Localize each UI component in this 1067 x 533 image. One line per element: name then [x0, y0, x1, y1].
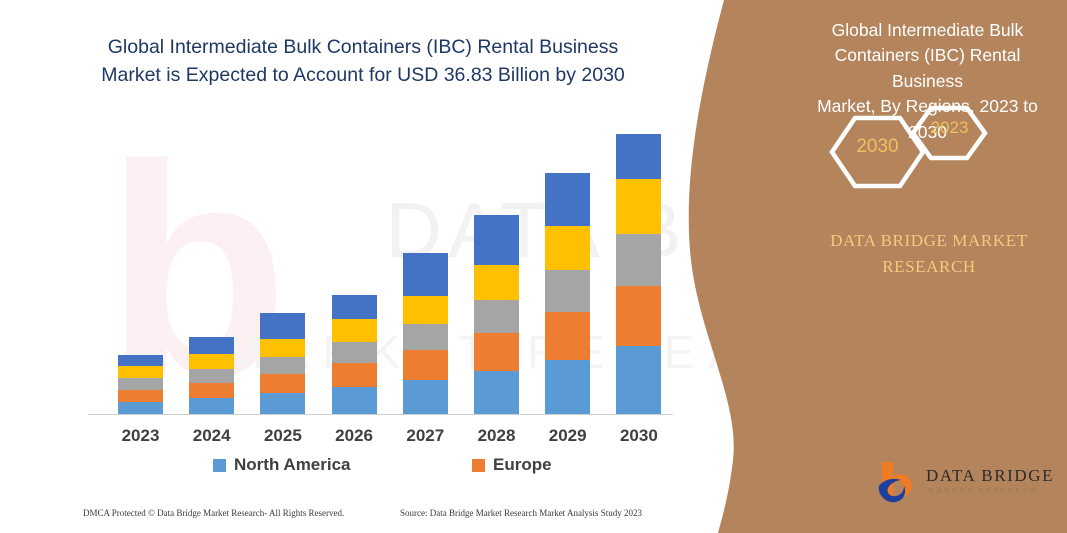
bar-segment-north-america: [189, 398, 234, 414]
bar-segment-series-5: [403, 253, 448, 296]
footer-source-text: Source: Data Bridge Market Research Mark…: [400, 508, 642, 518]
bar-segment-series-5: [545, 173, 590, 226]
bar-segment-europe: [403, 350, 448, 380]
bar-segment-series-5: [260, 313, 305, 339]
chart-baseline: [88, 414, 673, 415]
bar-segment-europe: [545, 312, 590, 360]
x-axis-label-2029: 2029: [533, 426, 603, 446]
bar-2025: [260, 313, 305, 414]
bar-segment-north-america: [260, 393, 305, 414]
logo-subtitle-text: MARKET RESEARCH: [927, 486, 1039, 495]
bar-segment-north-america: [118, 402, 163, 414]
data-bridge-logo: DATA BRIDGE MARKET RESEARCH: [876, 458, 1066, 510]
bar-segment-europe: [260, 374, 305, 393]
bar-2023: [118, 355, 163, 414]
bar-segment-series-4: [403, 296, 448, 324]
bar-segment-north-america: [332, 387, 377, 414]
bar-segment-series-3: [332, 342, 377, 363]
bar-segment-series-3: [189, 369, 234, 383]
bar-segment-series-3: [616, 234, 661, 286]
bar-segment-series-4: [474, 265, 519, 300]
brand-line-1: DATA BRIDGE MARKET: [800, 228, 1058, 254]
bar-segment-series-4: [260, 339, 305, 357]
bar-segment-europe: [332, 363, 377, 387]
bar-segment-north-america: [403, 380, 448, 414]
bar-segment-north-america: [474, 371, 519, 414]
bar-2027: [403, 253, 448, 414]
bar-segment-europe: [616, 286, 661, 346]
x-axis-label-2028: 2028: [462, 426, 532, 446]
chart-x-axis-labels: 20232024202520262027202820292030: [0, 426, 700, 450]
x-axis-label-2023: 2023: [106, 426, 176, 446]
bar-segment-series-5: [474, 215, 519, 265]
bar-segment-series-5: [332, 295, 377, 319]
right-panel-title-line-1: Global Intermediate Bulk: [800, 18, 1055, 43]
chart-bars: [0, 0, 700, 414]
bar-segment-north-america: [545, 360, 590, 414]
brand-line-2: RESEARCH: [800, 254, 1058, 280]
bar-segment-series-3: [474, 300, 519, 333]
bar-segment-series-3: [403, 324, 448, 350]
x-axis-label-2030: 2030: [604, 426, 674, 446]
bar-segment-series-4: [545, 226, 590, 270]
bar-segment-series-3: [260, 357, 305, 374]
stacked-bar-chart: 20232024202520262027202820292030 North A…: [0, 0, 700, 470]
bar-segment-north-america: [616, 346, 661, 414]
x-axis-label-2026: 2026: [319, 426, 389, 446]
legend-item-north-america[interactable]: North America: [213, 455, 351, 475]
bar-2024: [189, 337, 234, 414]
legend-label: North America: [234, 455, 351, 475]
bar-segment-series-3: [545, 270, 590, 312]
bar-segment-europe: [474, 333, 519, 371]
bar-segment-series-4: [332, 319, 377, 342]
right-panel-title-line-2: Containers (IBC) Rental Business: [800, 43, 1055, 94]
x-axis-label-2025: 2025: [248, 426, 318, 446]
bar-segment-europe: [189, 383, 234, 398]
legend-label: Europe: [493, 455, 552, 475]
bar-2030: [616, 134, 661, 414]
bar-2026: [332, 295, 377, 414]
legend-swatch-icon: [213, 459, 226, 472]
bar-segment-series-5: [616, 134, 661, 179]
bar-segment-series-4: [189, 354, 234, 369]
bar-segment-series-4: [616, 179, 661, 234]
hexagon-label-2023: 2023: [922, 118, 977, 138]
chart-legend: North AmericaEurope: [0, 455, 700, 481]
bar-2028: [474, 215, 519, 414]
x-axis-label-2027: 2027: [390, 426, 460, 446]
legend-item-europe[interactable]: Europe: [472, 455, 552, 475]
bar-segment-series-4: [118, 366, 163, 378]
right-panel-brand: DATA BRIDGE MARKET RESEARCH: [800, 228, 1058, 279]
infographic-canvas: b DATA BRIDGE MARKET RESEARCH Global Int…: [0, 0, 1067, 533]
hexagon-label-2030: 2030: [850, 136, 905, 158]
hexagon-outlines-icon: [810, 100, 1040, 210]
bar-2029: [545, 173, 590, 414]
bar-segment-europe: [118, 390, 163, 402]
bar-segment-series-5: [118, 355, 163, 366]
footer-dmca-text: DMCA Protected © Data Bridge Market Rese…: [83, 508, 344, 518]
logo-name-text: DATA BRIDGE: [926, 466, 1054, 486]
bar-segment-series-3: [118, 378, 163, 390]
data-bridge-mark-icon: [876, 458, 924, 506]
footer-bar: DMCA Protected © Data Bridge Market Rese…: [0, 508, 700, 528]
hexagon-badges: 2030 2023: [810, 100, 1040, 210]
bar-segment-series-5: [189, 337, 234, 354]
legend-swatch-icon: [472, 459, 485, 472]
x-axis-label-2024: 2024: [177, 426, 247, 446]
